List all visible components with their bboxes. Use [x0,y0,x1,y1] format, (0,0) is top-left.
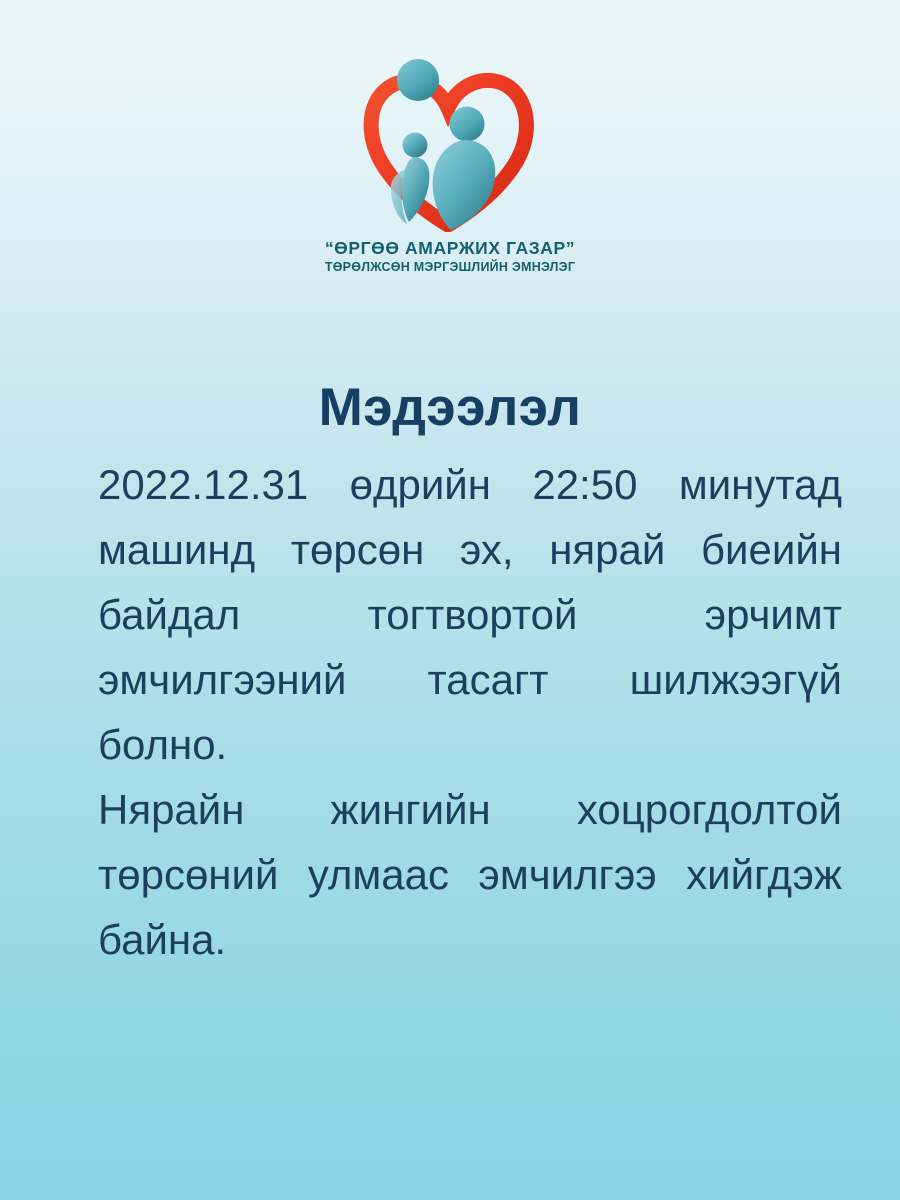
announcement-body: 2022.12.31 өдрийн 22:50 минутад машинд т… [98,452,842,972]
clinic-logo-block: “ӨРГӨӨ АМАРЖИХ ГАЗАР” ТӨРӨЛЖСӨН МЭРГЭШЛИ… [0,52,900,274]
page-title: Мэдээлэл [0,380,900,436]
heart-family-logo-icon [345,52,555,232]
logo-figure-head-top [397,59,439,101]
logo-organization-subtitle: ТӨРӨЛЖСӨН МЭРГЭШЛИЙН ЭМНЭЛЭГ [325,260,575,274]
logo-organization-name: “ӨРГӨӨ АМАРЖИХ ГАЗАР” [325,238,575,258]
announcement-paragraph-2: Нярайн жингийн хоцрогдолтой төрсөний улм… [98,777,842,972]
logo-adult-body [433,140,496,230]
announcement-paragraph-1: 2022.12.31 өдрийн 22:50 минутад машинд т… [98,452,842,777]
announcement-poster: “ӨРГӨӨ АМАРЖИХ ГАЗАР” ТӨРӨЛЖСӨН МЭРГЭШЛИ… [0,0,900,1200]
logo-adult-head [450,107,485,142]
logo-child-head [403,133,428,158]
